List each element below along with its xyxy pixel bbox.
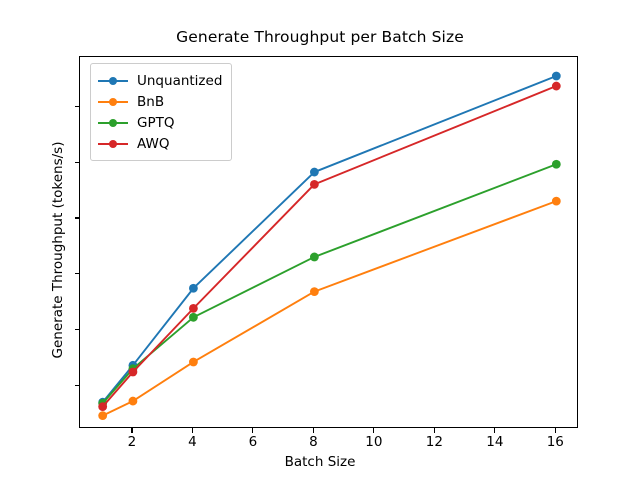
data-point: [98, 402, 107, 411]
x-tick-label: 14: [486, 434, 503, 450]
legend-marker-icon: [98, 116, 128, 130]
x-tick-label: 12: [426, 434, 443, 450]
legend-label: Unquantized: [137, 73, 222, 89]
data-point: [129, 368, 138, 377]
legend-item-bnb[interactable]: BnB: [98, 91, 222, 112]
legend-item-awq[interactable]: AWQ: [98, 133, 222, 154]
legend-label: BnB: [137, 94, 164, 110]
data-point: [310, 253, 319, 262]
x-tick-label: 8: [309, 434, 318, 450]
data-point: [310, 168, 319, 177]
x-tick-label: 6: [249, 434, 258, 450]
series-bnb: [98, 197, 560, 420]
x-axis-label: Batch Size: [0, 454, 640, 470]
legend-label: GPTQ: [137, 115, 174, 131]
x-tick-label: 10: [365, 434, 382, 450]
x-tick-label: 4: [188, 434, 197, 450]
data-point: [189, 284, 198, 293]
legend-item-unquantized[interactable]: Unquantized: [98, 70, 222, 91]
series-line: [103, 164, 557, 403]
data-point: [189, 313, 198, 322]
legend-item-gptq[interactable]: GPTQ: [98, 112, 222, 133]
legend-marker-icon: [98, 74, 128, 88]
data-point: [552, 72, 561, 81]
legend-marker-icon: [98, 95, 128, 109]
data-point: [98, 411, 107, 420]
legend-label: AWQ: [137, 136, 169, 152]
series-gptq: [98, 160, 560, 408]
x-tick-label: 16: [547, 434, 564, 450]
series-line: [103, 201, 557, 415]
data-point: [552, 160, 561, 169]
legend-marker-icon: [98, 137, 128, 151]
x-tick-label: 2: [128, 434, 137, 450]
data-point: [310, 287, 319, 296]
data-point: [552, 197, 561, 206]
data-point: [189, 304, 198, 313]
chart-title: Generate Throughput per Batch Size: [0, 28, 640, 46]
chart-legend: UnquantizedBnBGPTQAWQ: [90, 63, 232, 161]
y-axis-label: Generate Throughput (tokens/s): [50, 100, 66, 400]
data-point: [189, 358, 198, 367]
chart-figure: Generate Throughput per Batch Size Gener…: [0, 0, 640, 480]
data-point: [552, 82, 561, 91]
data-point: [310, 180, 319, 189]
data-point: [129, 397, 138, 406]
